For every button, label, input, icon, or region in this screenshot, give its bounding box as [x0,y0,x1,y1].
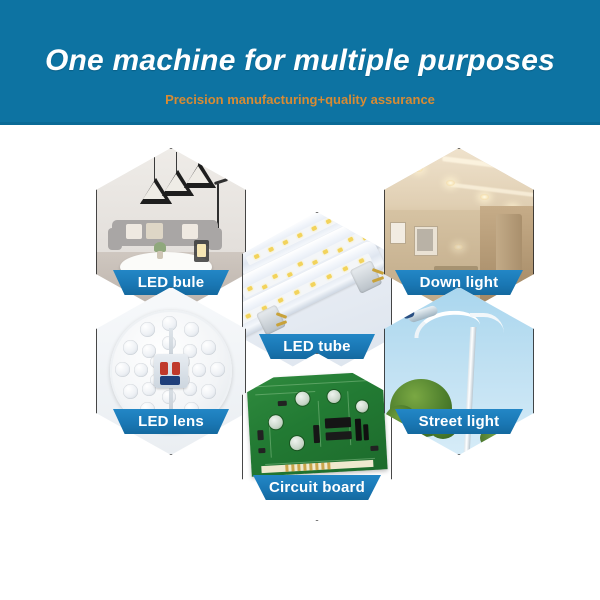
hex-label-circuit-board: Circuit board [253,475,381,500]
page-title: One machine for multiple purposes [0,44,600,78]
pcb [246,371,387,476]
promo-banner: One machine for multiple purposes Precis… [0,0,600,600]
hex-tile-led-lens[interactable]: LED lens [96,287,246,455]
page-subtitle: Precision manufacturing+quality assuranc… [0,92,600,107]
hex-tile-street-light[interactable]: Street light [384,287,534,455]
hex-label-led-lens: LED lens [113,409,229,434]
hexagon-grid: LED bule [0,122,600,600]
hex-tile-circuit-board[interactable]: Circuit board [242,353,392,521]
hex-label-street-light: Street light [395,409,523,434]
header-band: One machine for multiple purposes Precis… [0,0,600,125]
